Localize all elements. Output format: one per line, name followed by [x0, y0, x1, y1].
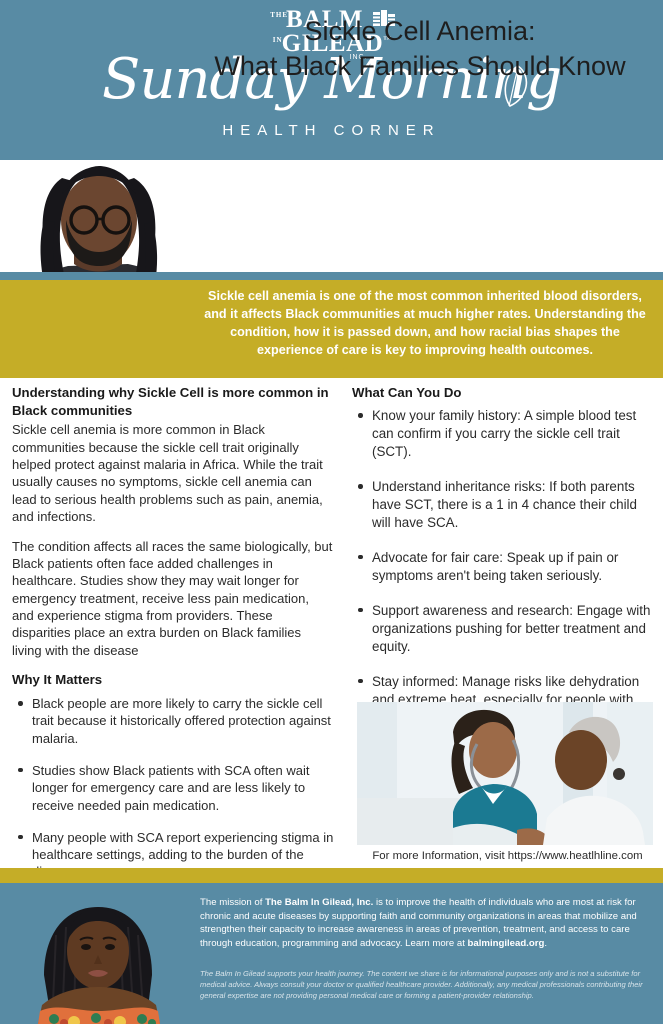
right-column: What Can You Do Know your family history… — [352, 384, 654, 744]
left-heading-2: Why It Matters — [12, 671, 334, 689]
footer-mission-text: The mission of The Balm In Gilead, Inc. … — [200, 896, 652, 950]
footer-disclaimer: The Balm In Gilead supports your health … — [200, 968, 652, 1001]
series-subtitle: HEALTH CORNER — [0, 122, 663, 139]
mission-text-end: . — [544, 938, 547, 949]
right-heading: What Can You Do — [352, 384, 654, 402]
footer-gold-divider — [0, 868, 663, 883]
list-item: Know your family history: A simple blood… — [352, 407, 654, 461]
what-can-you-do-list: Know your family history: A simple blood… — [352, 407, 654, 726]
photo-caption-source: For more Information, visit https://www.… — [352, 850, 663, 862]
list-item: Studies show Black patients with SCA oft… — [12, 762, 334, 814]
list-item: Understand inheritance risks: If both pa… — [352, 478, 654, 532]
page-title-line2: What Black Families Should Know — [185, 49, 655, 84]
photo-woman-braids — [0, 883, 190, 1024]
mission-website-link[interactable]: balmingilead.org — [468, 938, 545, 949]
photo-nurse-with-patient — [357, 702, 653, 845]
page-title: Sickle Cell Anemia: What Black Families … — [185, 14, 655, 83]
summary-text: Sickle cell anemia is one of the most co… — [200, 288, 650, 360]
list-item: Support awareness and research: Engage w… — [352, 602, 654, 656]
left-column: Understanding why Sickle Cell is more co… — [12, 384, 334, 896]
left-paragraph-2: The condition affects all races the same… — [12, 538, 334, 659]
list-item: Advocate for fair care: Speak up if pain… — [352, 549, 654, 585]
mission-text-part1: The mission of — [200, 897, 265, 908]
page-title-line1: Sickle Cell Anemia: — [185, 14, 655, 49]
left-heading-1: Understanding why Sickle Cell is more co… — [12, 384, 334, 420]
why-it-matters-list: Black people are more likely to carry th… — [12, 695, 334, 881]
left-paragraph-1: Sickle cell anemia is more common in Bla… — [12, 421, 334, 525]
mission-org-name: The Balm In Gilead, Inc. — [265, 897, 373, 908]
infographic-page: THEBALM INGILEAD™ — [0, 0, 663, 1024]
list-item: Black people are more likely to carry th… — [12, 695, 334, 747]
